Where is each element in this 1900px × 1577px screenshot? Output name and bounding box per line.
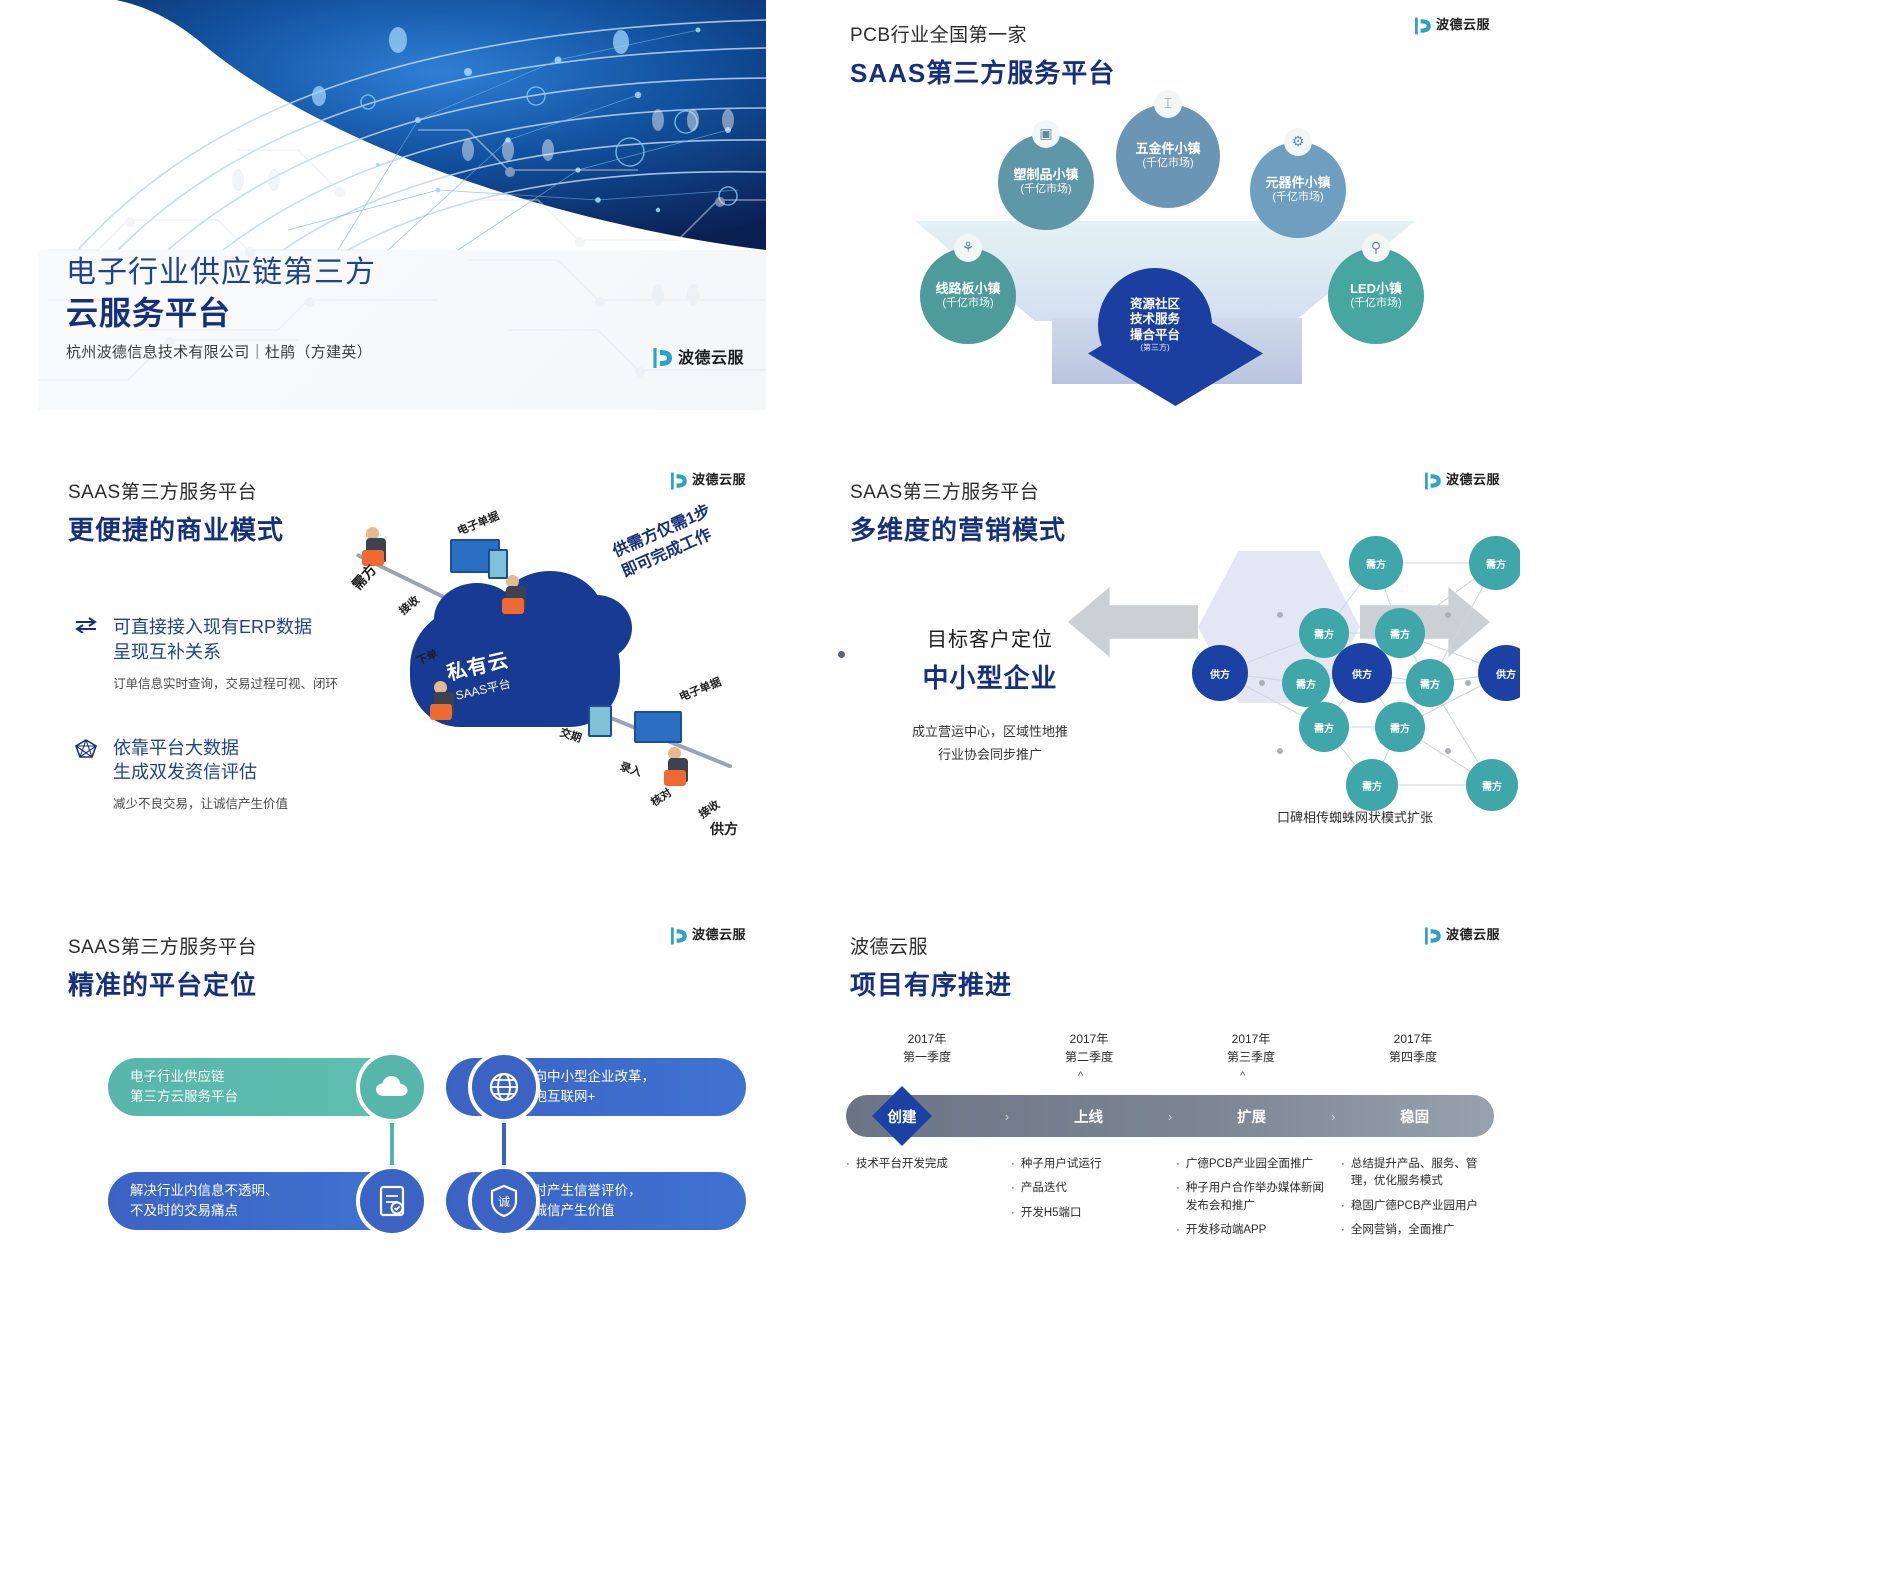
timeline-stage-上线[interactable]: 上线	[1009, 1106, 1168, 1127]
cover-title-line1: 电子行业供应链第三方	[66, 255, 376, 292]
bullet-dot-icon: ·	[1011, 1156, 1015, 1173]
mesh-node-label: 需方	[1314, 720, 1334, 735]
year-label: 2017年	[1332, 1030, 1494, 1048]
timeline-item-text: 稳固广德PCB产业园用户	[1351, 1198, 1478, 1215]
slide6-heading: 波德云服 项目有序推进	[850, 932, 1012, 1002]
brand-logo-cover: 波德云服	[651, 344, 744, 368]
mesh-node-label: 需方	[1420, 676, 1440, 691]
brand-logo-text: 波德云服	[678, 344, 744, 368]
bullet-dot-icon: ·	[1011, 1180, 1015, 1197]
slide2-eyebrow: PCB行业全国第一家	[850, 20, 1115, 47]
slide4-notes: 成立营运中心，区域性地推 行业协会同步推广	[860, 721, 1120, 767]
node-label: 线路板小镇	[935, 281, 1000, 297]
timeline-bar: ›上线›扩展›稳固	[846, 1095, 1494, 1137]
slide3-eyebrow: SAAS第三方服务平台	[68, 477, 284, 504]
timeline-list-item: ·总结提升产品、服务、管理，优化服务模式	[1341, 1156, 1492, 1191]
timeline-list-item: ·广德PCB产业园全面推广	[1176, 1156, 1327, 1173]
slide4-heading: SAAS第三方服务平台 多维度的营销模式	[850, 477, 1066, 547]
timeline-list-item: ·种子用户试运行	[1011, 1156, 1162, 1173]
timeline-item-text: 技术平台开发完成	[856, 1156, 948, 1173]
bullet-dot-icon: ·	[1341, 1198, 1345, 1215]
label-deliver: 交期	[558, 724, 584, 746]
timeline-year-3: 2017年第三季度	[1170, 1030, 1332, 1066]
node-label: 五金件小镇	[1135, 141, 1200, 157]
label-supply: 供方	[710, 819, 738, 839]
timeline-year-4: 2017年第四季度	[1332, 1030, 1494, 1066]
bullet-dot	[838, 651, 845, 658]
timeline-items-2: ·种子用户试运行·产品迭代·开发H5端口	[1011, 1156, 1176, 1246]
timeline-list-item: ·产品迭代	[1011, 1180, 1162, 1197]
node-sublabel: (千亿市场)	[1272, 191, 1323, 205]
node-pcb-town[interactable]: ⚘ 线路板小镇 (千亿市场)	[920, 248, 1016, 344]
brand-logo-text: 波德云服	[1446, 924, 1500, 943]
mesh-node-label: 需方	[1390, 626, 1410, 641]
timeline-list-item: ·全网营销，全面推广	[1341, 1222, 1492, 1239]
tick-mark-3: ^	[1240, 1070, 1245, 1082]
timeline-item-text: 种子用户试运行	[1021, 1156, 1102, 1173]
slide4-target-block: 目标客户定位 中小型企业 成立营运中心，区域性地推 行业协会同步推广	[860, 623, 1120, 767]
note-line1: 成立营运中心，区域性地推	[860, 721, 1120, 744]
timeline-list-item: ·稳固广德PCB产业园用户	[1341, 1198, 1492, 1215]
slide6-title: 项目有序推进	[850, 965, 1012, 1002]
timeline-items-3: ·广德PCB产业园全面推广·种子用户合作举办媒体新闻发布会和推广·开发移动端AP…	[1176, 1156, 1341, 1246]
timeline-item-text: 全网营销，全面推广	[1351, 1222, 1455, 1239]
bullet-dot-icon: ·	[1341, 1156, 1345, 1191]
note-line2: 行业协会同步推广	[860, 744, 1120, 767]
node-sublabel: (千亿市场)	[1142, 157, 1193, 171]
globe-icon	[468, 1051, 540, 1123]
core-line3: 撮合平台	[1130, 328, 1180, 344]
brand-logo-text: 波德云服	[1436, 14, 1490, 33]
slide-cover: 电子行业供应链第三方 云服务平台 杭州波德信息技术有限公司｜杜鹃（方建英） 波德…	[38, 0, 766, 410]
target-line2: 中小型企业	[860, 658, 1120, 695]
slide-roadmap: 波德云服 波德云服 项目有序推进 2017年第一季度2017年第二季度2017年…	[820, 910, 1520, 1320]
timeline-item-text: 开发H5端口	[1021, 1205, 1082, 1222]
bolt-icon: ⌶	[1154, 90, 1182, 118]
card-line2: 第三方云服务平台	[130, 1087, 238, 1107]
node-hardware-town[interactable]: ⌶ 五金件小镇 (千亿市场)	[1116, 104, 1220, 208]
mesh-node-supply-6[interactable]: 供方	[1332, 643, 1392, 703]
slide-saas-platform: 波德云服 PCB行业全国第一家 SAAS第三方服务平台 ▣ 塑制品小镇 (千亿市…	[820, 0, 1510, 410]
card-line2: 不及时的交易痛点	[130, 1201, 279, 1221]
node-components-town[interactable]: ⚙ 元器件小镇 (千亿市场)	[1250, 142, 1346, 238]
year-label: 2017年	[1008, 1030, 1170, 1048]
slide4-caption: 口碑相传蜘蛛网状模式扩张	[1220, 807, 1490, 826]
screen-tablet-top	[488, 549, 508, 579]
slide-marketing-model: 波德云服 SAAS第三方服务平台 多维度的营销模式 目标客户定位 中小型企业 成…	[820, 455, 1520, 865]
mesh-node-label: 需方	[1486, 556, 1506, 571]
mesh-node-demand-9[interactable]: 需方	[1299, 702, 1349, 752]
quarter-label: 第四季度	[1332, 1048, 1494, 1066]
card-line1: 电子行业供应链	[130, 1067, 238, 1087]
bullet-dot-icon: ·	[1176, 1156, 1180, 1173]
svg-text:诚: 诚	[498, 1195, 510, 1209]
bode-logo-icon	[669, 470, 687, 488]
screen-monitor-bottom	[634, 711, 682, 743]
mesh-node-label: 需方	[1362, 778, 1382, 793]
node-sublabel: (千亿市场)	[942, 297, 993, 311]
mesh-node-demand-7[interactable]: 需方	[1406, 659, 1454, 707]
label-receive-bottom: 接收	[695, 796, 722, 822]
node-led-town[interactable]: ⚲ LED小镇 (千亿市场)	[1328, 248, 1424, 344]
mesh-node-supply-4[interactable]: 供方	[1192, 645, 1248, 701]
bode-logo-icon	[1423, 470, 1441, 488]
box-icon: ▣	[1032, 120, 1060, 148]
label-receive-top: 接收	[395, 592, 422, 618]
chip-icon: ⚙	[1284, 128, 1312, 156]
slide4-title: 多维度的营销模式	[850, 510, 1066, 547]
bullet-dot-icon: ·	[1176, 1180, 1180, 1215]
timeline-year-2: 2017年第二季度	[1008, 1030, 1170, 1066]
timeline-item-text: 产品迭代	[1021, 1180, 1067, 1197]
mesh-node-label: 需方	[1296, 676, 1316, 691]
circuit-icon: ⚘	[954, 234, 982, 262]
label-doc-top: 电子单据	[455, 507, 502, 538]
slide6-eyebrow: 波德云服	[850, 932, 1012, 959]
label-enter: 录入	[618, 758, 644, 780]
bode-logo-icon	[1423, 925, 1441, 943]
bullet-title-line2: 生成双发资信评估	[113, 760, 257, 785]
mesh-node-label: 供方	[1352, 666, 1372, 681]
node-sublabel: (千亿市场)	[1020, 183, 1071, 197]
slide5-title: 精准的平台定位	[68, 965, 257, 1002]
figure-demand-person	[366, 527, 386, 566]
funnel-diagram: ▣ 塑制品小镇 (千亿市场) ⌶ 五金件小镇 (千亿市场) ⚙ 元器件小镇 (千…	[820, 96, 1510, 410]
mesh-node-demand-10[interactable]: 需方	[1375, 702, 1425, 752]
network-icon	[74, 736, 100, 765]
mesh-node-demand-12[interactable]: 需方	[1466, 759, 1518, 811]
slide5-eyebrow: SAAS第三方服务平台	[68, 932, 257, 959]
timeline-item-text: 广德PCB产业园全面推广	[1186, 1156, 1313, 1173]
slide-platform-positioning: 波德云服 SAAS第三方服务平台 精准的平台定位 电子行业供应链 第三方云服务平…	[38, 910, 766, 1320]
mesh-node-demand-5[interactable]: 需方	[1282, 659, 1330, 707]
mesh-node-label: 供方	[1496, 666, 1516, 681]
bullet-dot-icon: ·	[1341, 1222, 1345, 1239]
slide2-title: SAAS第三方服务平台	[850, 53, 1115, 90]
timeline-item-text: 总结提升产品、服务、管理，优化服务模式	[1351, 1156, 1492, 1191]
mesh-node-demand-1[interactable]: 需方	[1469, 536, 1520, 590]
bullet-title-line2: 呈现互补关系	[113, 640, 312, 665]
slide-business-model: 波德云服 SAAS第三方服务平台 更便捷的商业模式 可直接接入现有ERP数据	[38, 455, 766, 865]
figure-supply-person	[668, 747, 688, 786]
timeline-list-item: ·开发H5端口	[1011, 1205, 1162, 1222]
timeline-item-text: 开发移动端APP	[1186, 1222, 1267, 1239]
bode-logo-icon	[651, 345, 673, 367]
brand-logo-slide5: 波德云服	[669, 924, 746, 943]
bullet-title-line1: 依靠平台大数据	[113, 736, 257, 761]
bullet-dot-icon: ·	[846, 1156, 850, 1173]
card-line2: 拥抱互联网+	[520, 1087, 655, 1107]
mesh-node-label: 需方	[1366, 556, 1386, 571]
node-label: LED小镇	[1350, 281, 1402, 297]
core-line2: 技术服务	[1130, 312, 1180, 328]
mesh-node-label: 需方	[1314, 626, 1334, 641]
quarter-label: 第一季度	[846, 1048, 1008, 1066]
mesh-node-label: 供方	[1210, 666, 1230, 681]
figure-cloud-person-2	[434, 681, 454, 720]
brand-logo-slide3: 波德云服	[669, 469, 746, 488]
brand-logo-text: 波德云服	[692, 924, 746, 943]
timeline-stage-扩展[interactable]: 扩展	[1172, 1106, 1331, 1127]
node-sublabel: (千亿市场)	[1350, 297, 1401, 311]
slide4-eyebrow: SAAS第三方服务平台	[850, 477, 1066, 504]
timeline-year-labels: 2017年第一季度2017年第二季度2017年第三季度2017年第四季度	[846, 1030, 1494, 1066]
tick-mark-2: ^	[1078, 1070, 1083, 1082]
brand-logo-text: 波德云服	[1446, 469, 1500, 488]
slide2-heading: PCB行业全国第一家 SAAS第三方服务平台	[850, 20, 1115, 90]
cover-title-block: 电子行业供应链第三方 云服务平台 杭州波德信息技术有限公司｜杜鹃（方建英）	[66, 255, 376, 362]
slide5-heading: SAAS第三方服务平台 精准的平台定位	[68, 932, 257, 1002]
timeline-detail-columns: ·技术平台开发完成·种子用户试运行·产品迭代·开发H5端口·广德PCB产业园全面…	[846, 1156, 1506, 1246]
card-line1: 解决行业内信息不透明、	[130, 1181, 279, 1201]
node-plastic-town[interactable]: ▣ 塑制品小镇 (千亿市场)	[998, 134, 1094, 230]
slide3-title: 更便捷的商业模式	[68, 510, 284, 547]
core-line1: 资源社区	[1130, 297, 1180, 313]
card-line1: 面向中小型企业改革，	[520, 1067, 655, 1087]
figure-cloud-person-1	[506, 575, 526, 614]
bulb-icon: ⚲	[1362, 234, 1390, 262]
screen-phone-bottom	[588, 705, 612, 737]
timeline-stage-稳固[interactable]: 稳固	[1335, 1106, 1494, 1127]
mesh-node-demand-11[interactable]: 需方	[1346, 759, 1398, 811]
exchange-icon	[74, 615, 100, 638]
bullet-title-line1: 可直接接入现有ERP数据	[113, 615, 312, 640]
quarter-label: 第二季度	[1008, 1048, 1170, 1066]
timeline-year-1: 2017年第一季度	[846, 1030, 1008, 1066]
cover-title-line2: 云服务平台	[66, 294, 376, 333]
node-label: 元器件小镇	[1265, 175, 1330, 191]
bode-logo-icon	[1413, 15, 1431, 33]
node-core-platform[interactable]: 资源社区 技术服务 撮合平台 (第三方)	[1098, 268, 1212, 382]
brand-logo-slide4: 波德云服	[1423, 469, 1500, 488]
mesh-node-label: 需方	[1482, 778, 1502, 793]
cloud-icon	[356, 1051, 428, 1123]
slide-deck: 电子行业供应链第三方 云服务平台 杭州波德信息技术有限公司｜杜鹃（方建英） 波德…	[0, 0, 1900, 1577]
bode-logo-icon	[669, 925, 687, 943]
timeline-list-item: ·开发移动端APP	[1176, 1222, 1327, 1239]
brand-logo-slide6: 波德云服	[1423, 924, 1500, 943]
node-label: 塑制品小镇	[1013, 167, 1078, 183]
timeline-items-4: ·总结提升产品、服务、管理，优化服务模式·稳固广德PCB产业园用户·全网营销，全…	[1341, 1156, 1506, 1246]
mesh-node-demand-0[interactable]: 需方	[1349, 536, 1403, 590]
label-doc-bottom: 电子单据	[677, 673, 724, 704]
bullet-dot-icon: ·	[1011, 1205, 1015, 1222]
timeline-item-text: 种子用户合作举办媒体新闻发布会和推广	[1186, 1180, 1327, 1215]
year-label: 2017年	[846, 1030, 1008, 1048]
core-line4: (第三方)	[1140, 343, 1169, 353]
timeline-items-1: ·技术平台开发完成	[846, 1156, 1011, 1246]
quarter-label: 第三季度	[1170, 1048, 1332, 1066]
cloud-illustration: 私有云 SAAS平台 需方 接收 下单 电子单据 交期	[338, 515, 766, 845]
slide3-heading: SAAS第三方服务平台 更便捷的商业模式	[68, 477, 284, 547]
document-check-icon	[356, 1165, 428, 1237]
cover-subtitle: 杭州波德信息技术有限公司｜杜鹃（方建英）	[66, 341, 376, 362]
mesh-node-label: 需方	[1390, 720, 1410, 735]
shield-icon: 诚	[468, 1165, 540, 1237]
label-check: 核对	[647, 784, 674, 810]
brand-logo-slide2: 波德云服	[1413, 14, 1490, 33]
timeline-list-item: ·种子用户合作举办媒体新闻发布会和推广	[1176, 1180, 1327, 1215]
bullet-dot-icon: ·	[1176, 1222, 1180, 1239]
timeline-list-item: ·技术平台开发完成	[846, 1156, 997, 1173]
year-label: 2017年	[1170, 1030, 1332, 1048]
